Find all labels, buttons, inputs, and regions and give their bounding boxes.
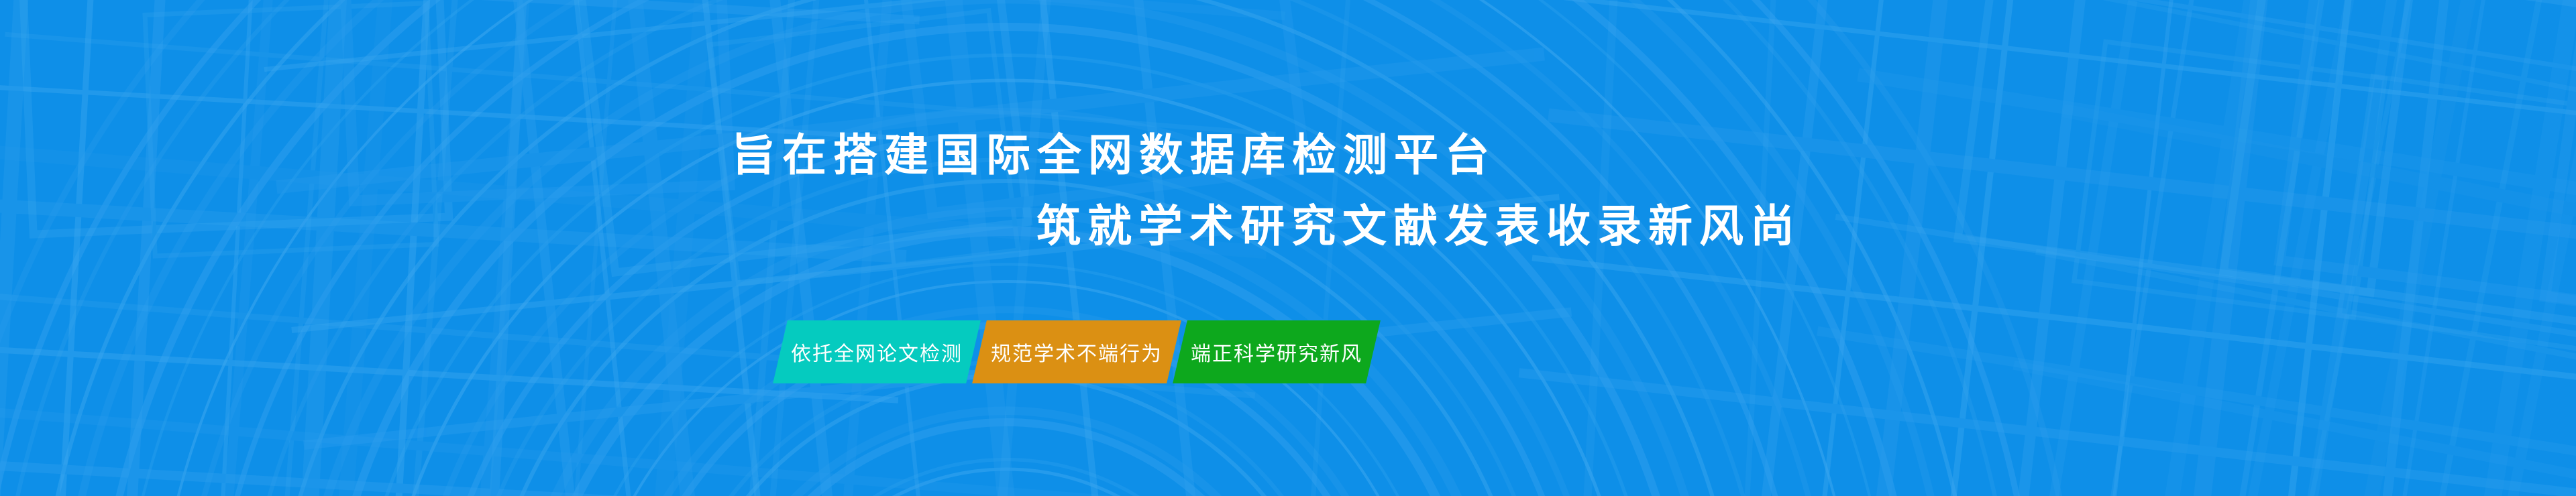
headline-block: 旨在搭建国际全网数据库检测平台 筑就学术研究文献发表收录新风尚 (0, 119, 1805, 267)
headline-line-1: 旨在搭建国际全网数据库检测平台 (0, 119, 1805, 190)
promo-banner: 旨在搭建国际全网数据库检测平台 筑就学术研究文献发表收录新风尚 依托全网论文检测… (0, 0, 2576, 496)
feature-tag-3-label: 端正科学研究新风 (1191, 337, 1362, 367)
feature-tag-1-label: 依托全网论文检测 (791, 337, 963, 367)
feature-tag-2-label: 规范学术不端行为 (991, 337, 1163, 367)
feature-tag-strip: 依托全网论文检测 规范学术不端行为 端正科学研究新风 (780, 320, 1373, 383)
feature-tag-1[interactable]: 依托全网论文检测 (773, 320, 981, 383)
feature-tag-2[interactable]: 规范学术不端行为 (972, 320, 1181, 383)
feature-tag-3[interactable]: 端正科学研究新风 (1173, 320, 1381, 383)
headline-line-2: 筑就学术研究文献发表收录新风尚 (0, 190, 1805, 261)
